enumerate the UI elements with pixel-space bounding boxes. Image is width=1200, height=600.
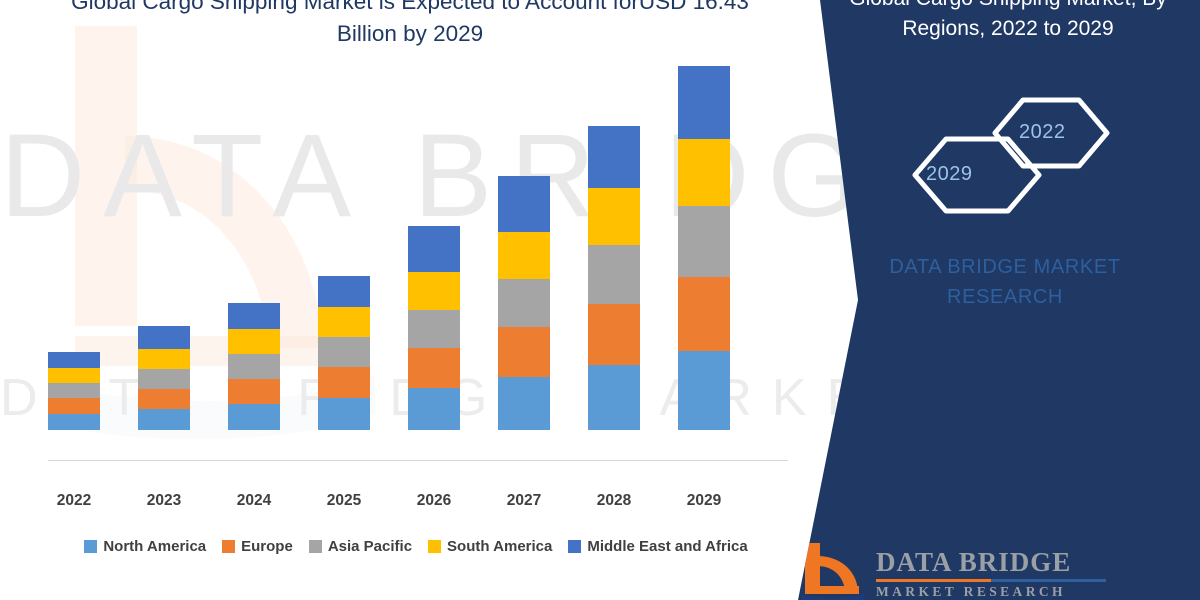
bar-segment-north-america[interactable] — [48, 414, 100, 430]
x-axis-label-2027: 2027 — [476, 492, 572, 510]
bar-segment-middle-east-and-africa[interactable] — [228, 303, 280, 329]
bar-segment-south-america[interactable] — [318, 307, 370, 337]
bar-segment-middle-east-and-africa[interactable] — [48, 352, 100, 368]
chart-legend: North AmericaEuropeAsia PacificSouth Ame… — [36, 538, 796, 555]
stacked-bar-chart: 20222023202420252026202720282029 — [36, 30, 796, 490]
bar-segment-north-america[interactable] — [588, 365, 640, 430]
legend-swatch-icon — [84, 540, 97, 553]
logo-rule — [876, 579, 1106, 582]
bar-segment-south-america[interactable] — [138, 349, 190, 369]
bar-segment-south-america[interactable] — [228, 329, 280, 354]
bar-segment-south-america[interactable] — [498, 232, 550, 279]
logo-name-text: DATA BRIDGE — [876, 547, 1126, 578]
legend-label: South America — [447, 538, 552, 555]
legend-label: North America — [103, 538, 206, 555]
bar-segment-north-america[interactable] — [498, 377, 550, 430]
data-bridge-logo: DATA BRIDGE MARKET RESEARCH — [802, 536, 1132, 600]
bar-segment-middle-east-and-africa[interactable] — [408, 226, 460, 272]
legend-item-middle-east-and-africa[interactable]: Middle East and Africa — [568, 538, 747, 555]
infographic-canvas: DATA BRIDGE DATA BRIDGE MARKET RESEARCH … — [0, 0, 1200, 600]
stacked-bar[interactable] — [138, 326, 190, 430]
bar-segment-asia-pacific[interactable] — [408, 310, 460, 348]
bar-segment-asia-pacific[interactable] — [48, 383, 100, 398]
bridge-mark-icon — [802, 542, 864, 600]
legend-swatch-icon — [568, 540, 581, 553]
x-axis-label-2029: 2029 — [656, 492, 752, 510]
legend-swatch-icon — [428, 540, 441, 553]
legend-item-north-america[interactable]: North America — [84, 538, 206, 555]
bar-segment-middle-east-and-africa[interactable] — [498, 176, 550, 232]
bar-segment-south-america[interactable] — [678, 139, 730, 206]
x-axis-label-2022: 2022 — [26, 492, 122, 510]
legend-item-europe[interactable]: Europe — [222, 538, 293, 555]
bar-segment-europe[interactable] — [408, 348, 460, 388]
legend-label: Middle East and Africa — [587, 538, 747, 555]
bar-segment-europe[interactable] — [138, 389, 190, 409]
legend-swatch-icon — [309, 540, 322, 553]
x-axis-label-2028: 2028 — [566, 492, 662, 510]
bar-segment-europe[interactable] — [228, 379, 280, 404]
stacked-bar[interactable] — [318, 276, 370, 430]
stacked-bar[interactable] — [48, 352, 100, 430]
bar-segment-north-america[interactable] — [678, 351, 730, 430]
bar-segment-south-america[interactable] — [588, 188, 640, 245]
bar-segment-asia-pacific[interactable] — [588, 245, 640, 304]
bar-segment-middle-east-and-africa[interactable] — [138, 326, 190, 349]
bar-segment-asia-pacific[interactable] — [678, 206, 730, 277]
panel-title: Global Cargo Shipping Market, By Regions… — [780, 0, 1200, 44]
stacked-bar[interactable] — [408, 226, 460, 430]
bar-segment-europe[interactable] — [588, 304, 640, 365]
bar-segment-middle-east-and-africa[interactable] — [318, 276, 370, 307]
stacked-bar[interactable] — [498, 176, 550, 430]
x-axis-line — [48, 460, 788, 461]
bar-segment-south-america[interactable] — [48, 368, 100, 383]
bar-segment-middle-east-and-africa[interactable] — [588, 126, 640, 188]
hexagon-label-2022: 2022 — [1019, 121, 1066, 144]
legend-label: Asia Pacific — [328, 538, 412, 555]
legend-item-south-america[interactable]: South America — [428, 538, 552, 555]
legend-item-asia-pacific[interactable]: Asia Pacific — [309, 538, 412, 555]
bar-segment-middle-east-and-africa[interactable] — [678, 66, 730, 139]
chart-panel: DATA BRIDGE DATA BRIDGE MARKET RESEARCH … — [0, 0, 880, 600]
legend-label: Europe — [241, 538, 293, 555]
bar-segment-north-america[interactable] — [228, 404, 280, 430]
bar-segment-europe[interactable] — [498, 327, 550, 377]
x-axis-label-2023: 2023 — [116, 492, 212, 510]
bar-segment-asia-pacific[interactable] — [498, 279, 550, 327]
bar-segment-north-america[interactable] — [138, 409, 190, 430]
bar-segment-south-america[interactable] — [408, 272, 460, 310]
bar-segment-north-america[interactable] — [408, 388, 460, 430]
bar-segment-asia-pacific[interactable] — [318, 337, 370, 367]
bar-segment-europe[interactable] — [678, 277, 730, 351]
bar-segment-north-america[interactable] — [318, 398, 370, 430]
plot-area — [36, 60, 796, 460]
legend-swatch-icon — [222, 540, 235, 553]
hexagon-label-2029: 2029 — [926, 163, 973, 186]
bar-segment-asia-pacific[interactable] — [228, 354, 280, 379]
stacked-bar[interactable] — [678, 66, 730, 430]
x-axis-label-2026: 2026 — [386, 492, 482, 510]
bar-segment-asia-pacific[interactable] — [138, 369, 190, 389]
logo-subtitle-text: MARKET RESEARCH — [876, 584, 1126, 600]
x-axis-label-2024: 2024 — [206, 492, 302, 510]
stacked-bar[interactable] — [228, 303, 280, 430]
stacked-bar[interactable] — [588, 126, 640, 430]
x-axis-label-2025: 2025 — [296, 492, 392, 510]
bar-segment-europe[interactable] — [48, 398, 100, 414]
bar-segment-europe[interactable] — [318, 367, 370, 398]
